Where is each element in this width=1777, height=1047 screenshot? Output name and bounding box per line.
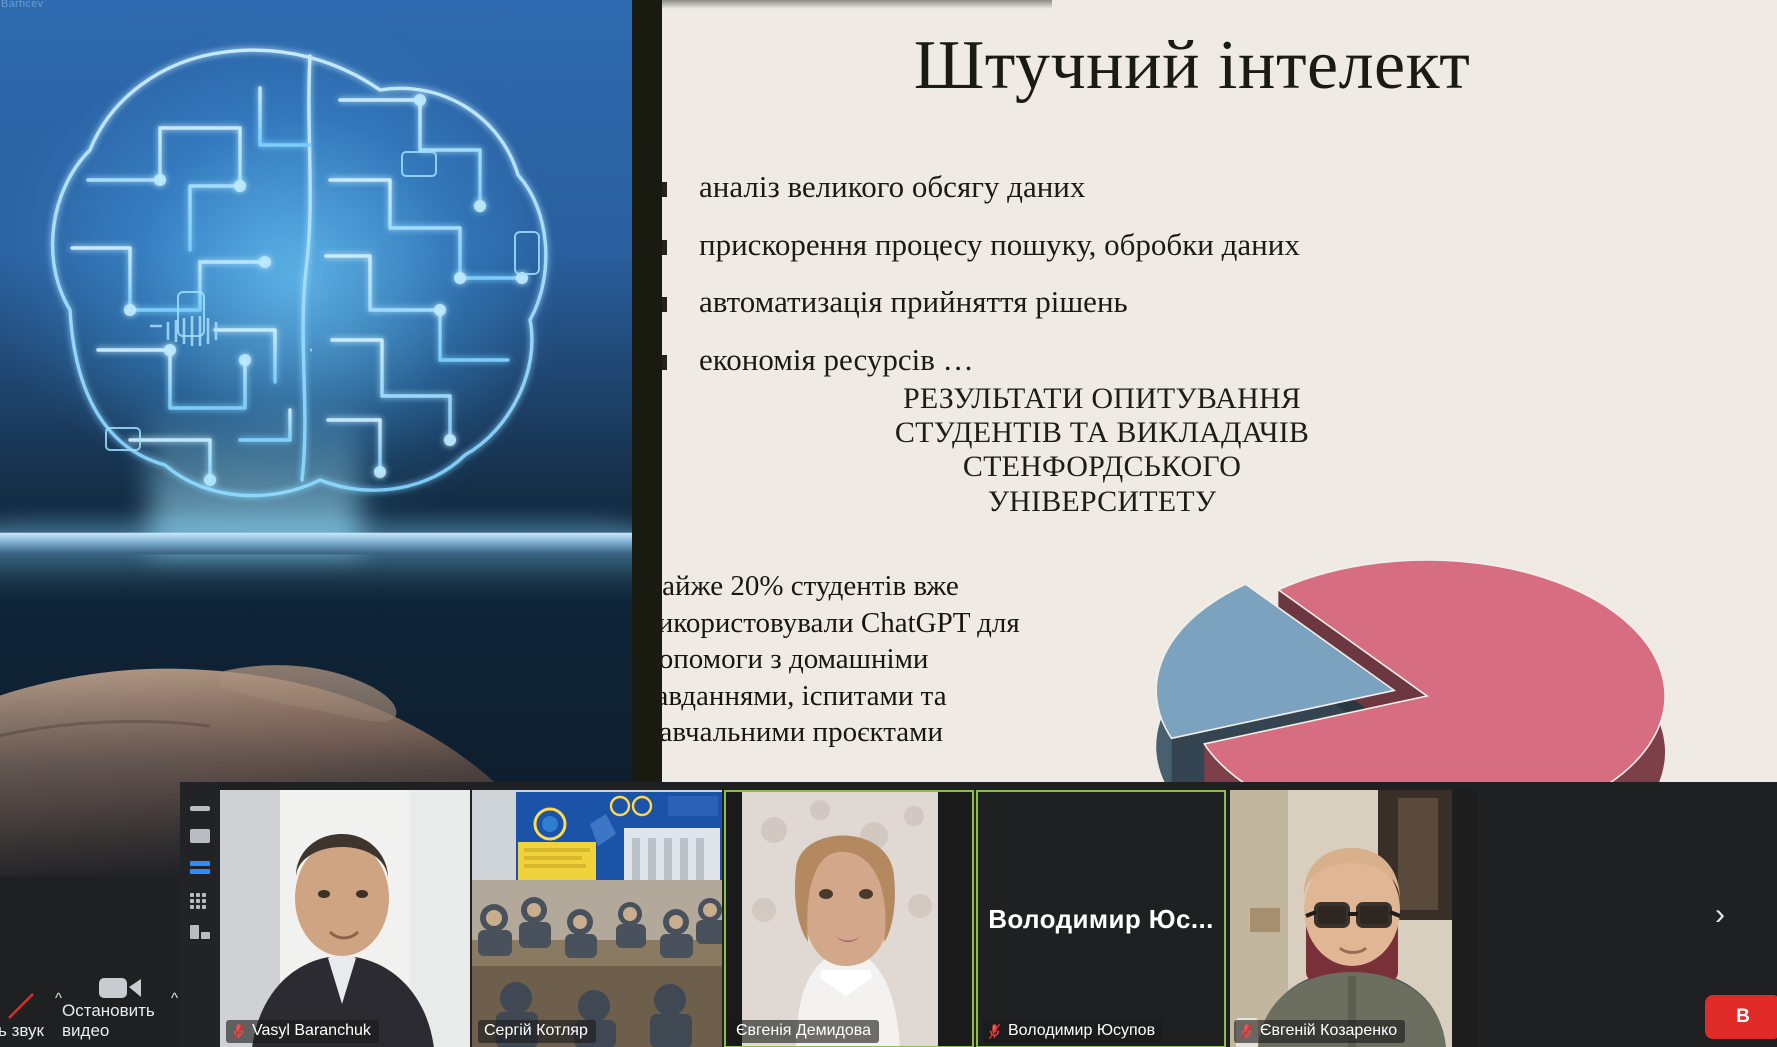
presentation-slide: Штучний інтелект аналіз великого обсягу … bbox=[662, 0, 1777, 900]
participant-tile[interactable]: Сергій Котляр bbox=[472, 790, 722, 1047]
slide-top-shadow bbox=[662, 0, 1052, 9]
participant-video bbox=[472, 790, 722, 1047]
list-item: економія ресурсів … bbox=[662, 343, 1472, 378]
slide-left-accent-band bbox=[632, 0, 662, 900]
square-bullet-icon bbox=[662, 297, 667, 312]
participant-tiles: Vasyl Baranchuk bbox=[220, 790, 1480, 1047]
bullet-text: аналіз великого обсягу даних bbox=[699, 170, 1085, 205]
shared-screen-region[interactable]: Barhcev Штучний інтелект аналіз великого… bbox=[0, 0, 1777, 900]
bullet-list: аналіз великого обсягу даних прискорення… bbox=[662, 170, 1472, 401]
square-bullet-icon bbox=[662, 355, 667, 370]
video-camera-icon bbox=[99, 975, 143, 1001]
slide-ai-brain-image: Barhcev bbox=[0, 0, 632, 900]
leave-meeting-label: В bbox=[1736, 1006, 1750, 1028]
chevron-right-icon[interactable]: › bbox=[1705, 892, 1735, 938]
minimize-thumbnail-icon[interactable] bbox=[190, 925, 210, 939]
paragraph-line: допомоги з домашніми bbox=[662, 641, 1062, 678]
survey-description-paragraph: майже 20% студентів вже використовували … bbox=[662, 568, 1062, 751]
participant-tile-active-speaker[interactable]: Євгенія Демидова bbox=[724, 790, 974, 1047]
paragraph-line: навчальними проєктами bbox=[662, 714, 1062, 751]
square-bullet-icon bbox=[662, 240, 667, 255]
participant-name: Євгеній Козаренко bbox=[1260, 1022, 1397, 1040]
meeting-control-bar: ь звук ^ Остановить видео ^ bbox=[0, 876, 180, 1047]
full-screen-icon[interactable] bbox=[190, 829, 210, 843]
participant-name: Євгенія Демидова bbox=[736, 1022, 871, 1040]
participant-name-badge: Сергій Котляр bbox=[478, 1020, 596, 1043]
paragraph-line: використовували ChatGPT для bbox=[662, 605, 1062, 642]
participant-filmstrip: Vasyl Baranchuk bbox=[180, 782, 1777, 1047]
mic-muted-icon bbox=[6, 981, 36, 1021]
participant-video bbox=[220, 790, 470, 1047]
participant-video bbox=[724, 790, 974, 1047]
mute-audio-button[interactable]: ь звук ^ bbox=[0, 981, 60, 1041]
participant-video bbox=[1228, 790, 1478, 1047]
participant-name-badge: Євгенія Демидова bbox=[730, 1020, 879, 1043]
stop-video-label: Остановить видео bbox=[62, 1001, 180, 1041]
participant-display-name: Володимир Юс... bbox=[988, 904, 1213, 935]
square-bullet-icon bbox=[662, 182, 667, 197]
active-speaker-icon[interactable] bbox=[190, 861, 210, 875]
device-light-beam bbox=[150, 400, 360, 550]
list-item: прискорення процесу пошуку, обробки дани… bbox=[662, 228, 1472, 263]
tablet-device bbox=[0, 533, 632, 555]
zoom-meeting-window: Barhcev Штучний інтелект аналіз великого… bbox=[0, 0, 1777, 1047]
gallery-grid-icon[interactable] bbox=[190, 893, 210, 907]
participant-name-badge: Vasyl Baranchuk bbox=[226, 1020, 379, 1043]
view-layout-sidebar[interactable] bbox=[180, 782, 220, 1047]
page-title: Штучний інтелект bbox=[662, 26, 1722, 106]
participant-tile[interactable]: Володимир Юс... Володимир Юсупов bbox=[976, 790, 1226, 1047]
mic-muted-icon bbox=[1240, 1023, 1253, 1040]
speaker-bar-icon[interactable] bbox=[190, 806, 210, 811]
paragraph-line: майже 20% студентів вже bbox=[662, 568, 1062, 605]
chevron-up-icon[interactable]: ^ bbox=[55, 990, 62, 1007]
leave-meeting-button[interactable]: В bbox=[1705, 995, 1777, 1039]
list-item: аналіз великого обсягу даних bbox=[662, 170, 1472, 205]
participant-name-badge: Євгеній Козаренко bbox=[1234, 1020, 1405, 1043]
mic-muted-icon bbox=[988, 1023, 1001, 1040]
participant-tile[interactable]: Vasyl Baranchuk bbox=[220, 790, 470, 1047]
mute-audio-label: ь звук bbox=[0, 1021, 44, 1041]
mic-muted-icon bbox=[232, 1023, 245, 1040]
bullet-text: економія ресурсів … bbox=[699, 343, 974, 378]
paragraph-line: завданнями, іспитами та bbox=[662, 678, 1062, 715]
chevron-up-icon[interactable]: ^ bbox=[171, 990, 178, 1007]
participant-tile[interactable]: Євгеній Козаренко bbox=[1228, 790, 1478, 1047]
survey-results-heading: РЕЗУЛЬТАТИ ОПИТУВАННЯ СТУДЕНТІВ ТА ВИКЛА… bbox=[862, 382, 1342, 519]
participant-name: Володимир Юсупов bbox=[1008, 1022, 1155, 1040]
participant-name: Сергій Котляр bbox=[484, 1022, 588, 1040]
list-item: автоматизація прийняття рішень bbox=[662, 285, 1472, 320]
screen-share-name-label: Barhcev bbox=[1, 0, 43, 10]
stop-video-button[interactable]: Остановить видео ^ bbox=[62, 961, 180, 1041]
bullet-text: автоматизація прийняття рішень bbox=[699, 285, 1128, 320]
bullet-text: прискорення процесу пошуку, обробки дани… bbox=[699, 228, 1300, 263]
participant-name: Vasyl Baranchuk bbox=[252, 1022, 371, 1040]
participant-name-badge: Володимир Юсупов bbox=[982, 1020, 1163, 1043]
